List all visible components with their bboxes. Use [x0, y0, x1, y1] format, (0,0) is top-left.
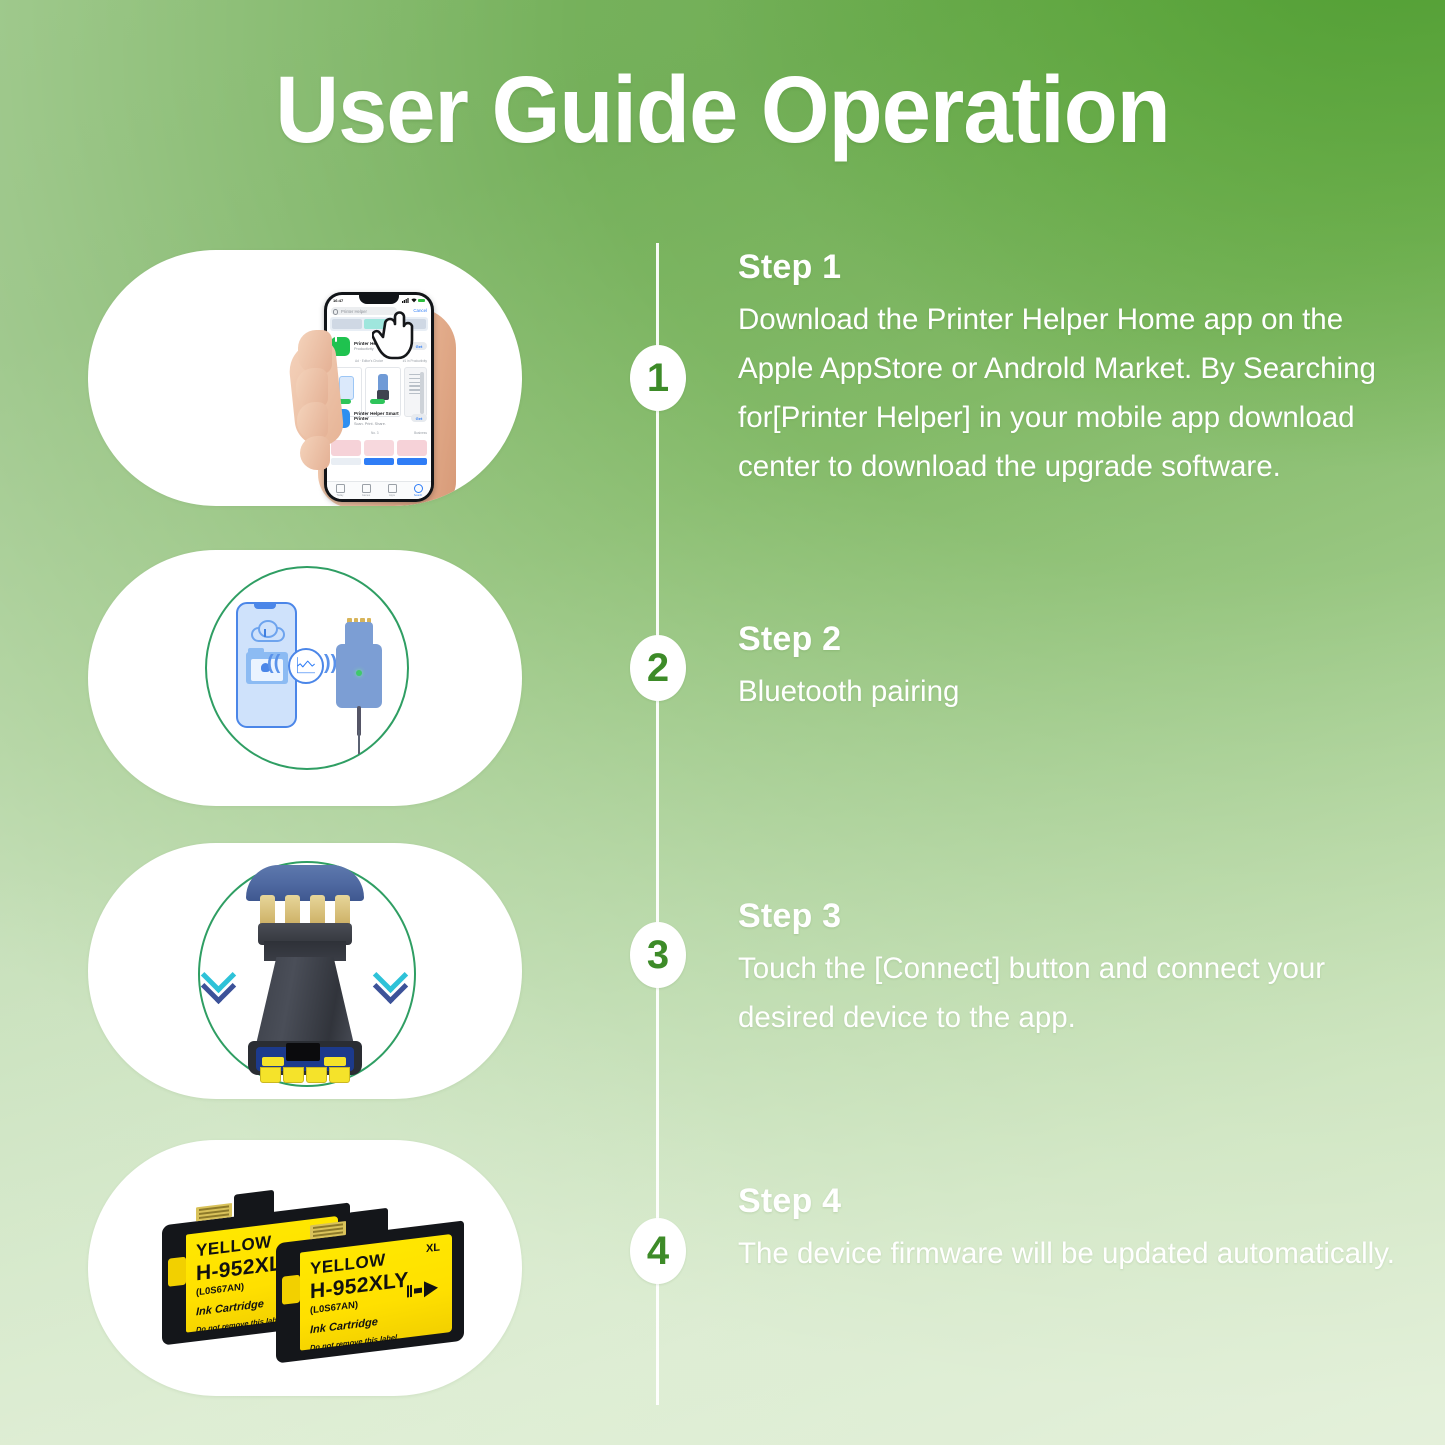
step-image-panel-3 [88, 843, 522, 1099]
app-meta: Printer Helper Smart Printer Scan. Print… [354, 411, 407, 426]
step-body: Download the Printer Helper Home app on … [738, 295, 1413, 491]
chip-resetter-device-illustration [238, 865, 372, 1081]
cartridge-label: YELLOW H-952XLY (L0S67AN) Ink Cartridge … [300, 1234, 452, 1351]
step-title: Step 2 [738, 620, 1413, 659]
app-meta-right: Business [414, 431, 427, 435]
tab-games[interactable]: Games [362, 484, 371, 497]
step-title: Step 1 [738, 248, 1413, 287]
contact-pad [324, 1057, 346, 1066]
step-badge-2: 2 [630, 635, 686, 701]
page-title: User Guide Operation [51, 56, 1395, 165]
screenshot-thumb [331, 440, 361, 472]
chip-resetter-illustration [336, 618, 382, 718]
app-subtitle: Scan. Print. Share. [354, 422, 407, 426]
phone-notch-icon [254, 604, 276, 609]
step-badge-1: 1 [630, 345, 686, 411]
user-guide-poster: User Guide Operation 16:47 [0, 0, 1445, 1445]
screenshot-thumb [364, 440, 394, 472]
step-text-4: Step 4 The device firmware will be updat… [738, 1182, 1413, 1278]
today-icon [336, 484, 345, 493]
status-indicators [402, 298, 425, 303]
status-bar: 16:47 [327, 296, 431, 305]
tab-today[interactable]: Today [336, 484, 345, 497]
app-meta-center: No. 3 [371, 431, 379, 435]
app-result-row[interactable]: Printer Helper Smart Printer Scan. Print… [331, 407, 427, 429]
chevron-down-icon [206, 963, 232, 989]
battery-icon [418, 299, 425, 303]
app-name: Printer Helper Smart Printer [354, 411, 399, 421]
cartridge-size-badge: XL [426, 1241, 440, 1255]
step-image-panel-1: 16:47 Printer Helper Cancel [88, 250, 522, 506]
step-image-panel-2: (( 🗠 )) [88, 550, 522, 806]
search-icon [414, 484, 423, 493]
tab-search[interactable]: Search [414, 484, 423, 497]
chevron-down-icon [378, 963, 404, 989]
apps-icon [388, 484, 397, 493]
finger-shape [297, 402, 328, 440]
signal-icon [402, 298, 409, 303]
search-icon [333, 309, 338, 314]
step-body: Touch the [Connect] button and connect y… [738, 944, 1413, 1042]
step-badge-3: 3 [630, 922, 686, 988]
signal-wave-left-icon: (( [267, 652, 280, 675]
tab-apps[interactable]: Apps [388, 484, 397, 497]
cloud-download-icon [251, 620, 283, 638]
step-title: Step 3 [738, 897, 1413, 936]
contact-pad-row [260, 1067, 350, 1083]
step-badge-4: 4 [630, 1218, 686, 1284]
step-text-2: Step 2 Bluetooth pairing [738, 620, 1413, 716]
status-time: 16:47 [333, 298, 343, 303]
wifi-icon [411, 298, 417, 303]
chip-ic-icon [286, 1043, 320, 1061]
step-text-1: Step 1 Download the Printer Helper Home … [738, 248, 1413, 491]
step-title: Step 4 [738, 1182, 1413, 1221]
screenshot-carousel-secondary[interactable] [331, 440, 427, 472]
device-body [254, 957, 356, 1053]
games-icon [362, 484, 371, 493]
step-text-3: Step 3 Touch the [Connect] button and co… [738, 897, 1413, 1042]
status-led-icon [356, 670, 362, 676]
pointing-hand-cursor-icon [372, 308, 418, 362]
banner-tile [332, 319, 362, 329]
finger-shape [300, 436, 330, 470]
hand-holding-phone-illustration: 16:47 Printer Helper Cancel [284, 290, 460, 506]
get-button[interactable]: Get [411, 414, 427, 422]
contact-pad [262, 1057, 284, 1066]
ink-cartridge: YELLOW H-952XLY (L0S67AN) Ink Cartridge … [276, 1220, 464, 1363]
step-body: Bluetooth pairing [738, 667, 1413, 716]
search-input-value: Printer Helper [341, 309, 367, 314]
screenshot-thumb [397, 440, 427, 472]
app-rating-row: 4.4 No. 3 Business [331, 430, 427, 436]
bottom-tab-bar[interactable]: Today Games Apps Search [327, 481, 431, 499]
step-image-panel-4: YELLOW H-952XLY (L0S67AN) Ink Cartridge … [88, 1140, 522, 1396]
bluetooth-icon: 🗠 [288, 648, 324, 684]
step-body: The device firmware will be updated auto… [738, 1229, 1413, 1278]
